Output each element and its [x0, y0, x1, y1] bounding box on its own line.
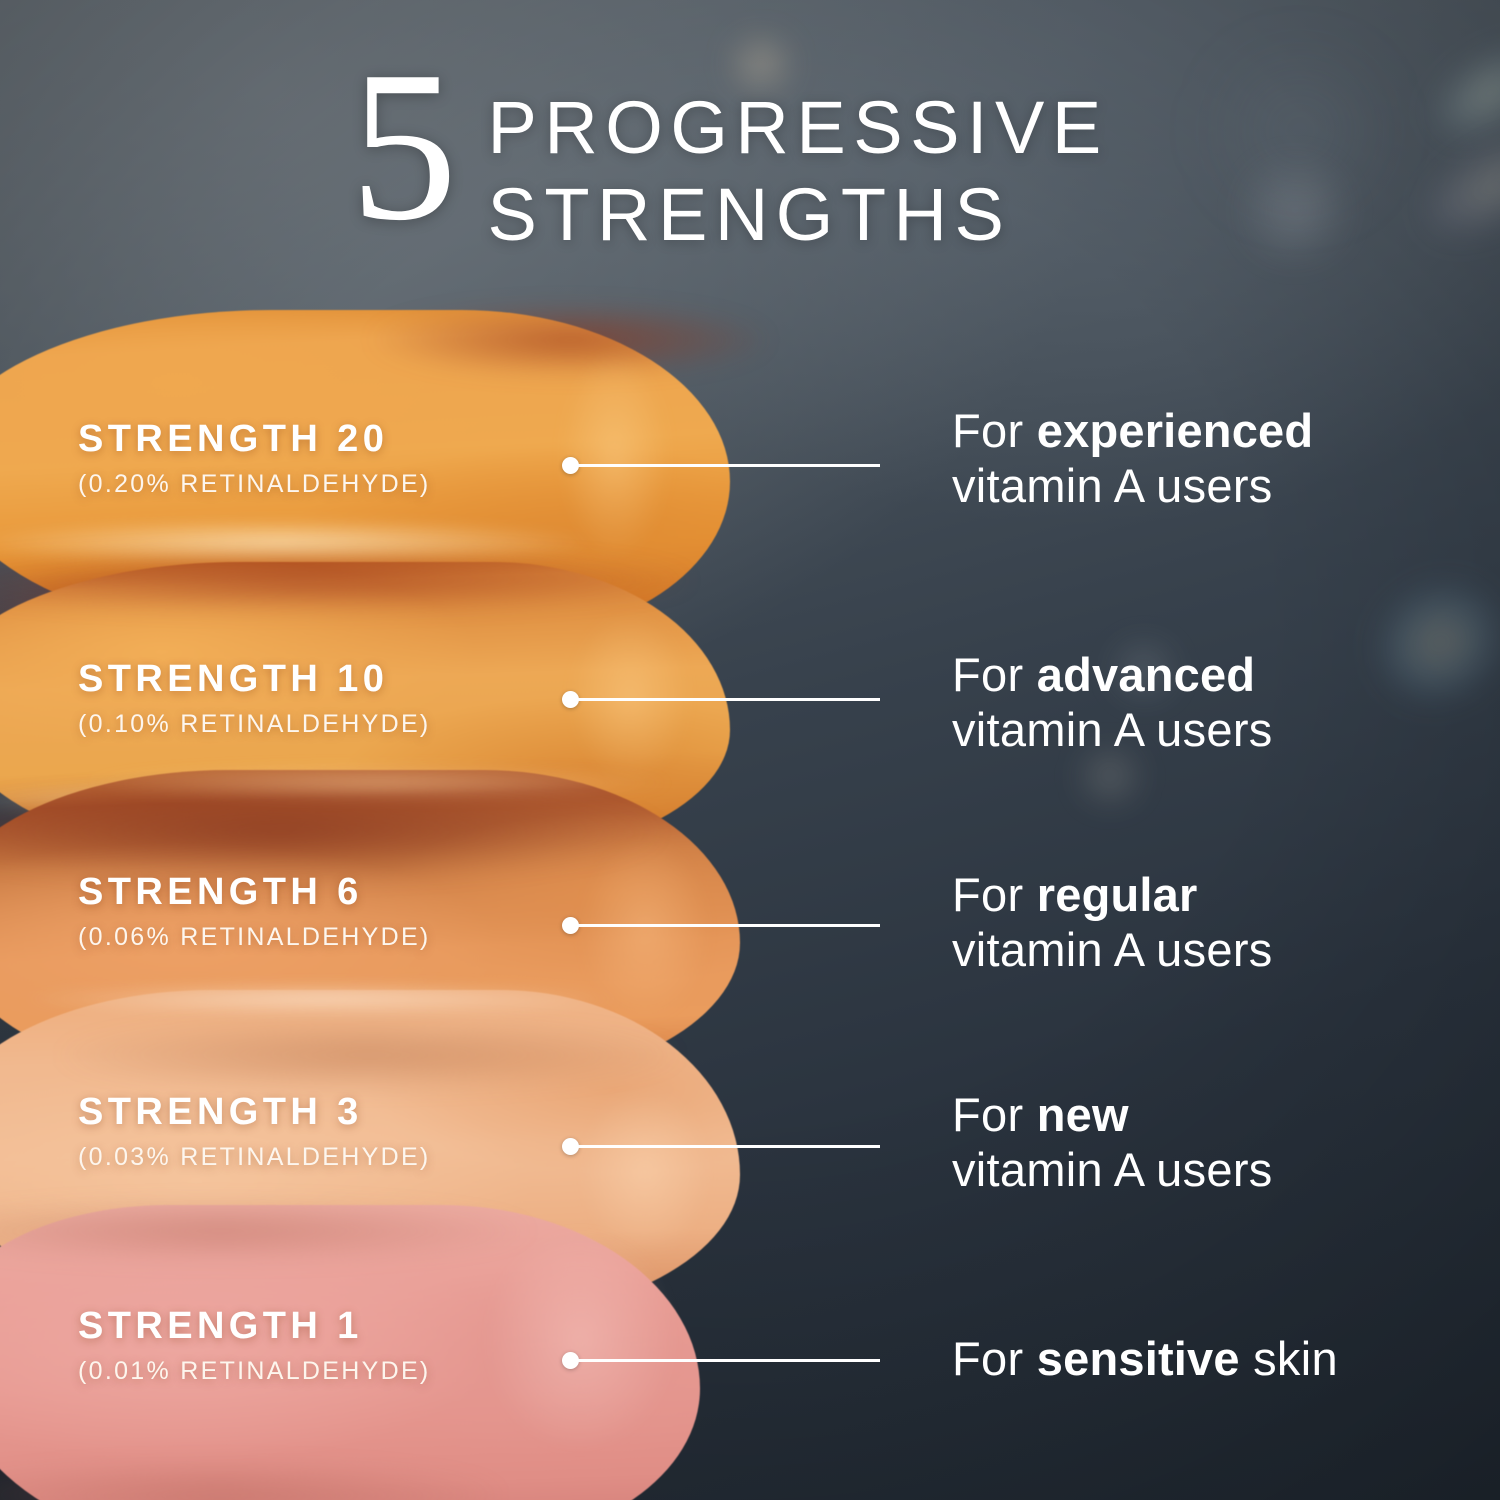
- caption-6-line1: For regular: [952, 868, 1273, 923]
- caption-6-line2: vitamin A users: [952, 923, 1273, 978]
- title-words: PROGRESSIVE STRENGTHS: [488, 58, 1109, 259]
- smear-label-strength-1: STRENGTH 1 (0.01% RETINALDEHYDE): [78, 1307, 431, 1384]
- connector-strength-3: [562, 1137, 880, 1155]
- strength-10-title: STRENGTH 10: [78, 660, 431, 698]
- caption-6-emphasis: regular: [1037, 868, 1198, 921]
- smear-label-strength-10: STRENGTH 10 (0.10% RETINALDEHYDE): [78, 660, 431, 737]
- strength-3-title: STRENGTH 3: [78, 1093, 431, 1131]
- caption-3-line1: For new: [952, 1088, 1273, 1143]
- connector-strength-1: [562, 1351, 880, 1369]
- product-strength-infographic: 5 PROGRESSIVE STRENGTHS: [0, 0, 1500, 1500]
- strength-10-concentration: (0.10% RETINALDEHYDE): [78, 712, 431, 737]
- caption-strength-20: For experienced vitamin A users: [952, 404, 1313, 513]
- caption-strength-3: For new vitamin A users: [952, 1088, 1273, 1197]
- connector-strength-10: [562, 690, 880, 708]
- title-word-progressive: PROGRESSIVE: [488, 84, 1109, 171]
- caption-10-line1: For advanced: [952, 648, 1273, 703]
- caption-20-line2: vitamin A users: [952, 459, 1313, 514]
- connector-strength-6: [562, 916, 880, 934]
- caption-3-prefix: For: [952, 1088, 1023, 1141]
- caption-1-emphasis: sensitive: [1037, 1332, 1240, 1385]
- caption-10-emphasis: advanced: [1037, 648, 1255, 701]
- strength-20-concentration: (0.20% RETINALDEHYDE): [78, 472, 431, 497]
- title-word-strengths: STRENGTHS: [488, 171, 1109, 258]
- smear-label-strength-20: STRENGTH 20 (0.20% RETINALDEHYDE): [78, 420, 431, 497]
- smear-label-strength-6: STRENGTH 6 (0.06% RETINALDEHYDE): [78, 873, 431, 950]
- smear-label-strength-3: STRENGTH 3 (0.03% RETINALDEHYDE): [78, 1093, 431, 1170]
- connector-line-3: [577, 1145, 880, 1148]
- caption-20-prefix: For: [952, 404, 1023, 457]
- caption-1-line1: For sensitive skin: [952, 1332, 1338, 1387]
- caption-3-line2: vitamin A users: [952, 1143, 1273, 1198]
- caption-strength-10: For advanced vitamin A users: [952, 648, 1273, 757]
- connector-line-6: [577, 924, 880, 927]
- connector-strength-20: [562, 456, 880, 474]
- caption-3-emphasis: new: [1037, 1088, 1129, 1141]
- caption-6-prefix: For: [952, 868, 1023, 921]
- caption-strength-6: For regular vitamin A users: [952, 868, 1273, 977]
- connector-line-1: [577, 1359, 880, 1362]
- connector-line-20: [577, 464, 880, 467]
- caption-1-suffix: skin: [1253, 1332, 1338, 1385]
- title-number: 5: [350, 58, 454, 234]
- strength-1-concentration: (0.01% RETINALDEHYDE): [78, 1359, 431, 1384]
- strength-3-concentration: (0.03% RETINALDEHYDE): [78, 1145, 431, 1170]
- caption-10-line2: vitamin A users: [952, 703, 1273, 758]
- caption-10-prefix: For: [952, 648, 1023, 701]
- strength-6-concentration: (0.06% RETINALDEHYDE): [78, 925, 431, 950]
- caption-1-prefix: For: [952, 1332, 1023, 1385]
- caption-20-line1: For experienced: [952, 404, 1313, 459]
- strength-1-title: STRENGTH 1: [78, 1307, 431, 1345]
- caption-20-emphasis: experienced: [1037, 404, 1314, 457]
- connector-line-10: [577, 698, 880, 701]
- strength-20-title: STRENGTH 20: [78, 420, 431, 458]
- strength-6-title: STRENGTH 6: [78, 873, 431, 911]
- page-title: 5 PROGRESSIVE STRENGTHS: [350, 58, 1250, 259]
- caption-strength-1: For sensitive skin: [952, 1332, 1338, 1387]
